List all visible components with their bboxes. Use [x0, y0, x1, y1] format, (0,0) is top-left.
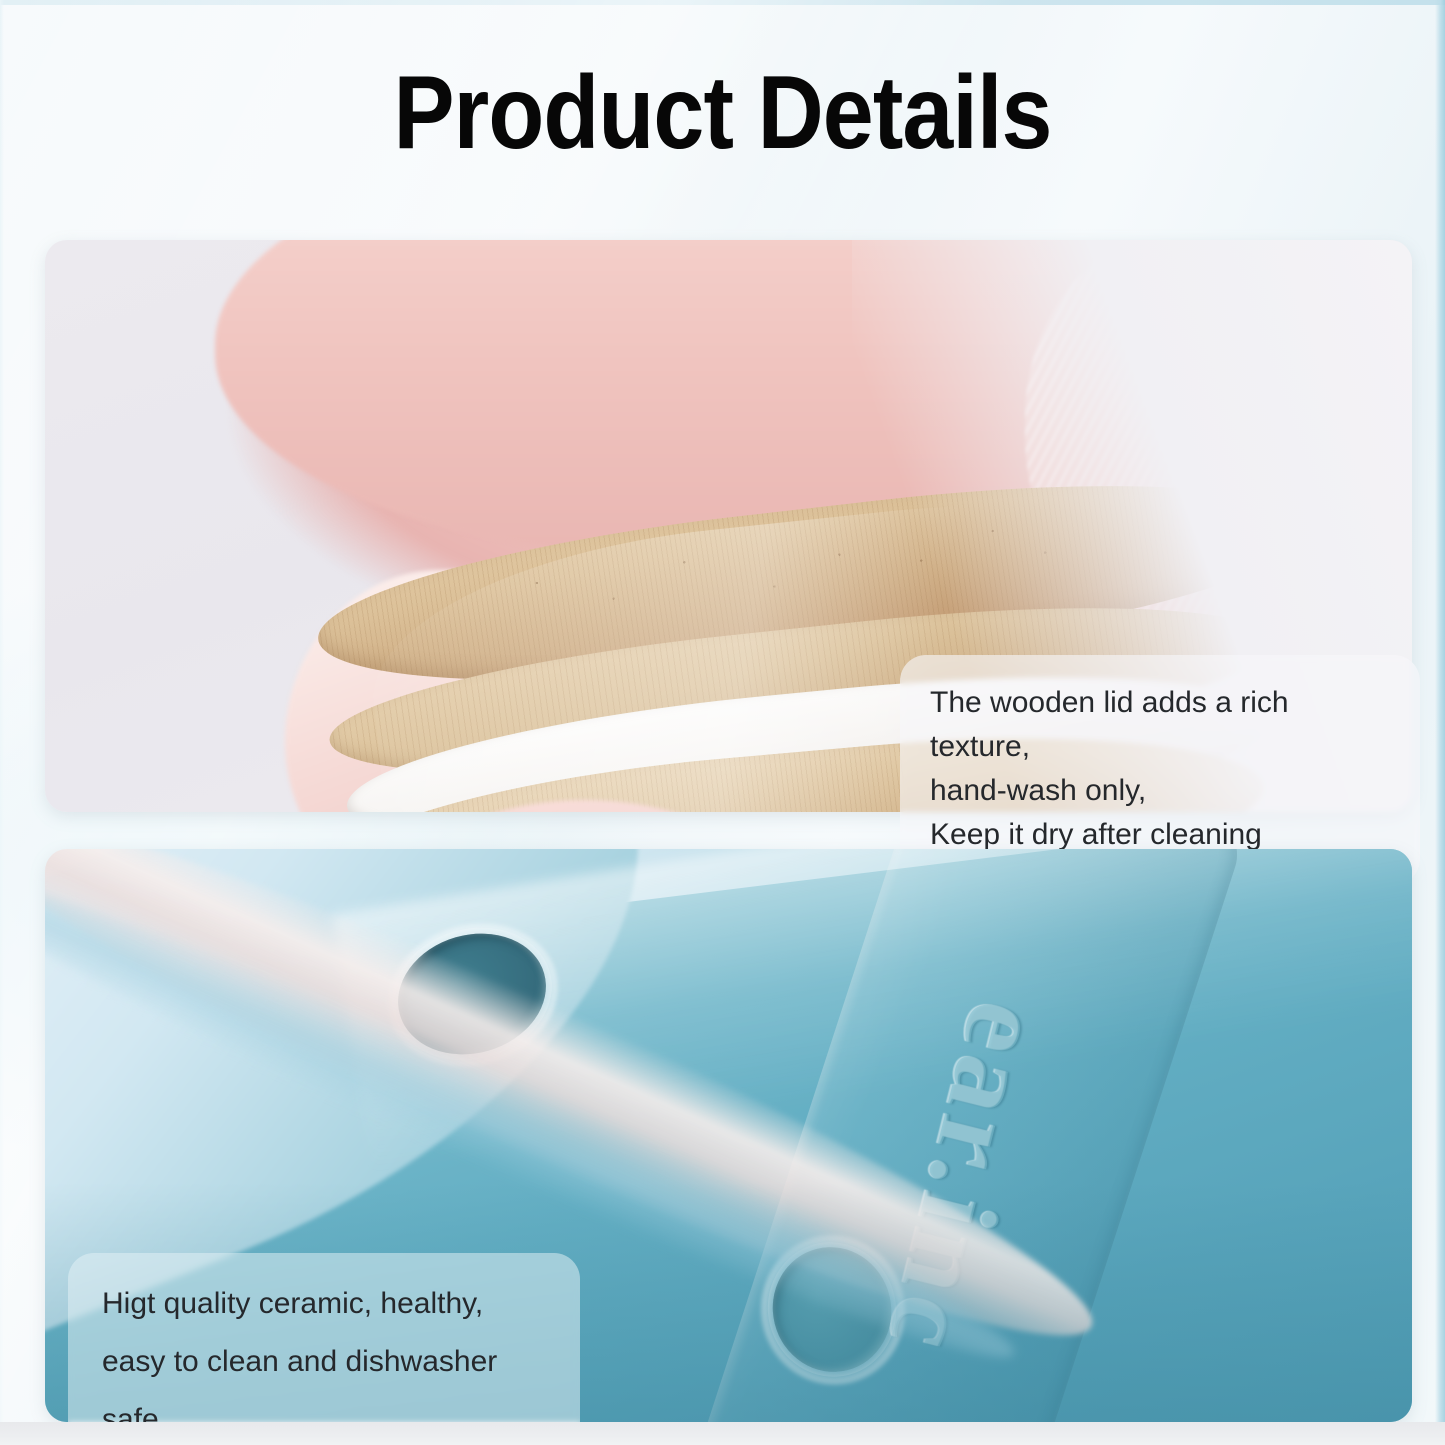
- frame-left-edge: [0, 0, 4, 1445]
- page-title: Product Details: [87, 58, 1359, 168]
- product-details-page: Product Details The wooden lid adds a ri…: [0, 0, 1445, 1445]
- frame-top-edge: [0, 0, 1445, 5]
- frame-right-edge: [1435, 0, 1445, 1445]
- bottom-edge-strip: [0, 1422, 1445, 1445]
- caption-ceramic: Higt quality ceramic, healthy, easy to c…: [68, 1253, 580, 1445]
